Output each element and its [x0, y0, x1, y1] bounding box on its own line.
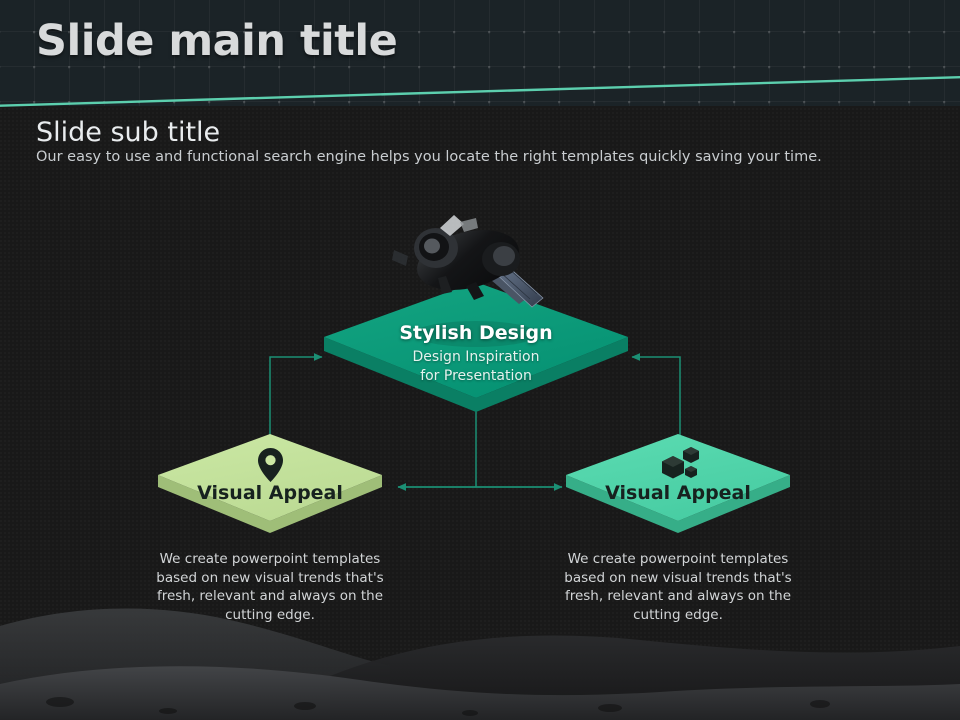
node-stylish-design[interactable]: Stylish Design Design Inspiration for Pr…: [324, 282, 628, 404]
node-visual-appeal-left[interactable]: Visual Appeal: [158, 434, 382, 534]
right-node-description: We create powerpoint templates based on …: [563, 550, 793, 625]
cubes-icon: [660, 446, 702, 482]
slide-canvas: Slide main title Slide sub title Our eas…: [0, 0, 960, 720]
lead-paragraph: Our easy to use and functional search en…: [36, 145, 876, 170]
left-node-description: We create powerpoint templates based on …: [155, 550, 385, 625]
lunar-terrain: [0, 580, 960, 720]
location-pin-icon: [258, 448, 283, 482]
page-subtitle: Slide sub title: [36, 118, 220, 148]
node-visual-appeal-right[interactable]: Visual Appeal: [566, 434, 790, 534]
page-title: Slide main title: [36, 18, 397, 65]
satellite-icon: [380, 212, 565, 327]
